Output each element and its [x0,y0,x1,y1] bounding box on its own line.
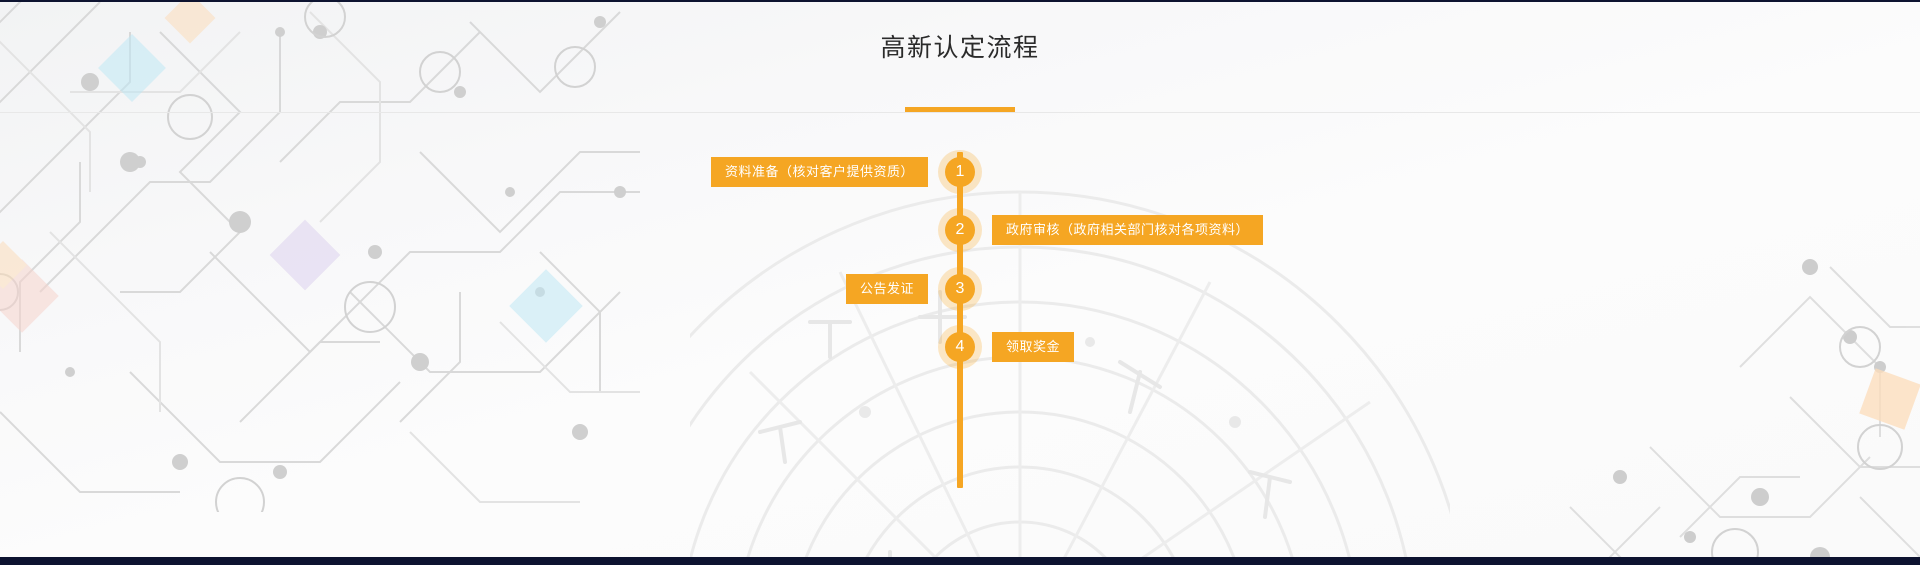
page-chrome-top-strip [0,0,1920,2]
circuit-pattern-decoration-bottom-right [1530,247,1920,557]
page-canvas: 高新认定流程 资料准备（核对客户提供资质） 1 政府审核（政府相关部门核对各项资… [0,2,1920,557]
step-2-label[interactable]: 政府审核（政府相关部门核对各项资料） [992,215,1263,245]
title-accent-underline [905,107,1015,112]
step-4-marker[interactable]: 4 [938,325,982,369]
page-title: 高新认定流程 [0,28,1920,64]
page-chrome-bottom-strip [0,557,1920,565]
step-1-marker[interactable]: 1 [938,150,982,194]
step-3-marker[interactable]: 3 [938,267,982,311]
step-2-number: 2 [945,215,975,245]
step-2-marker[interactable]: 2 [938,208,982,252]
step-3-label[interactable]: 公告发证 [846,274,928,304]
step-4-label[interactable]: 领取奖金 [992,332,1074,362]
step-1-label[interactable]: 资料准备（核对客户提供资质） [711,157,928,187]
step-4-number: 4 [945,332,975,362]
step-3-number: 3 [945,274,975,304]
step-1-number: 1 [945,157,975,187]
page-header: 高新认定流程 [0,2,1920,115]
header-divider-rule [0,112,1920,113]
timeline-vertical-line [957,152,963,488]
